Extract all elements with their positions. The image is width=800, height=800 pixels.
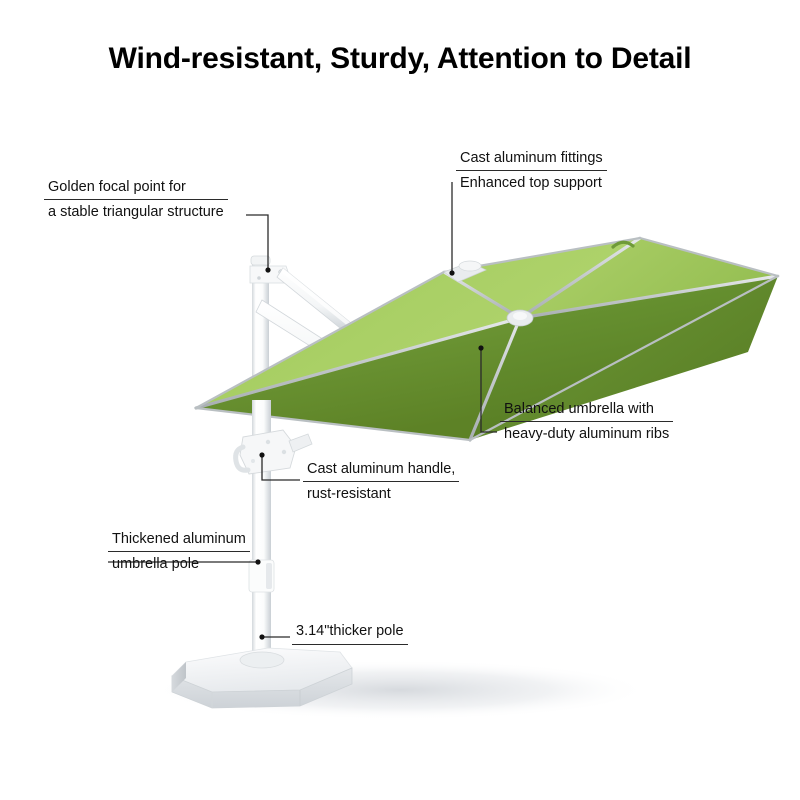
callout-cast-aluminum-fittings: Cast aluminum fittings Enhanced top supp… — [456, 147, 607, 195]
canopy-hub-fitting — [507, 310, 533, 326]
pole-joint-collar — [249, 560, 274, 592]
callout-thickened-aluminum-pole: Thickened aluminum umbrella pole — [108, 528, 250, 576]
callout-golden-focal-point: Golden focal point for a stable triangul… — [44, 176, 228, 224]
mast-top-cap — [251, 256, 270, 265]
infographic-canvas: Wind-resistant, Sturdy, Attention to Det… — [0, 0, 800, 800]
base-pole-socket — [240, 652, 284, 668]
callout-handle-line1: Cast aluminum handle, — [303, 458, 459, 481]
callout-focal-line1: Golden focal point for — [44, 176, 228, 199]
product-illustration — [0, 0, 800, 800]
canopy-top-cap — [459, 261, 481, 271]
callout-pole-line2: umbrella pole — [108, 551, 250, 575]
crank-handle-housing — [236, 430, 312, 474]
callout-thickness-line1: 3.14"thicker pole — [292, 620, 408, 645]
callout-fittings-line1: Cast aluminum fittings — [456, 147, 607, 170]
callout-balanced-umbrella-ribs: Balanced umbrella with heavy-duty alumin… — [500, 398, 673, 446]
callout-cast-aluminum-handle: Cast aluminum handle, rust-resistant — [303, 458, 459, 506]
callout-pole-line1: Thickened aluminum — [108, 528, 250, 551]
callout-pole-thickness: 3.14"thicker pole — [292, 620, 408, 645]
callout-ribs-line1: Balanced umbrella with — [500, 398, 673, 421]
callout-ribs-line2: heavy-duty aluminum ribs — [500, 421, 673, 445]
callout-focal-line2: a stable triangular structure — [44, 199, 228, 223]
callout-fittings-line2: Enhanced top support — [456, 170, 607, 194]
callout-handle-line2: rust-resistant — [303, 481, 459, 505]
